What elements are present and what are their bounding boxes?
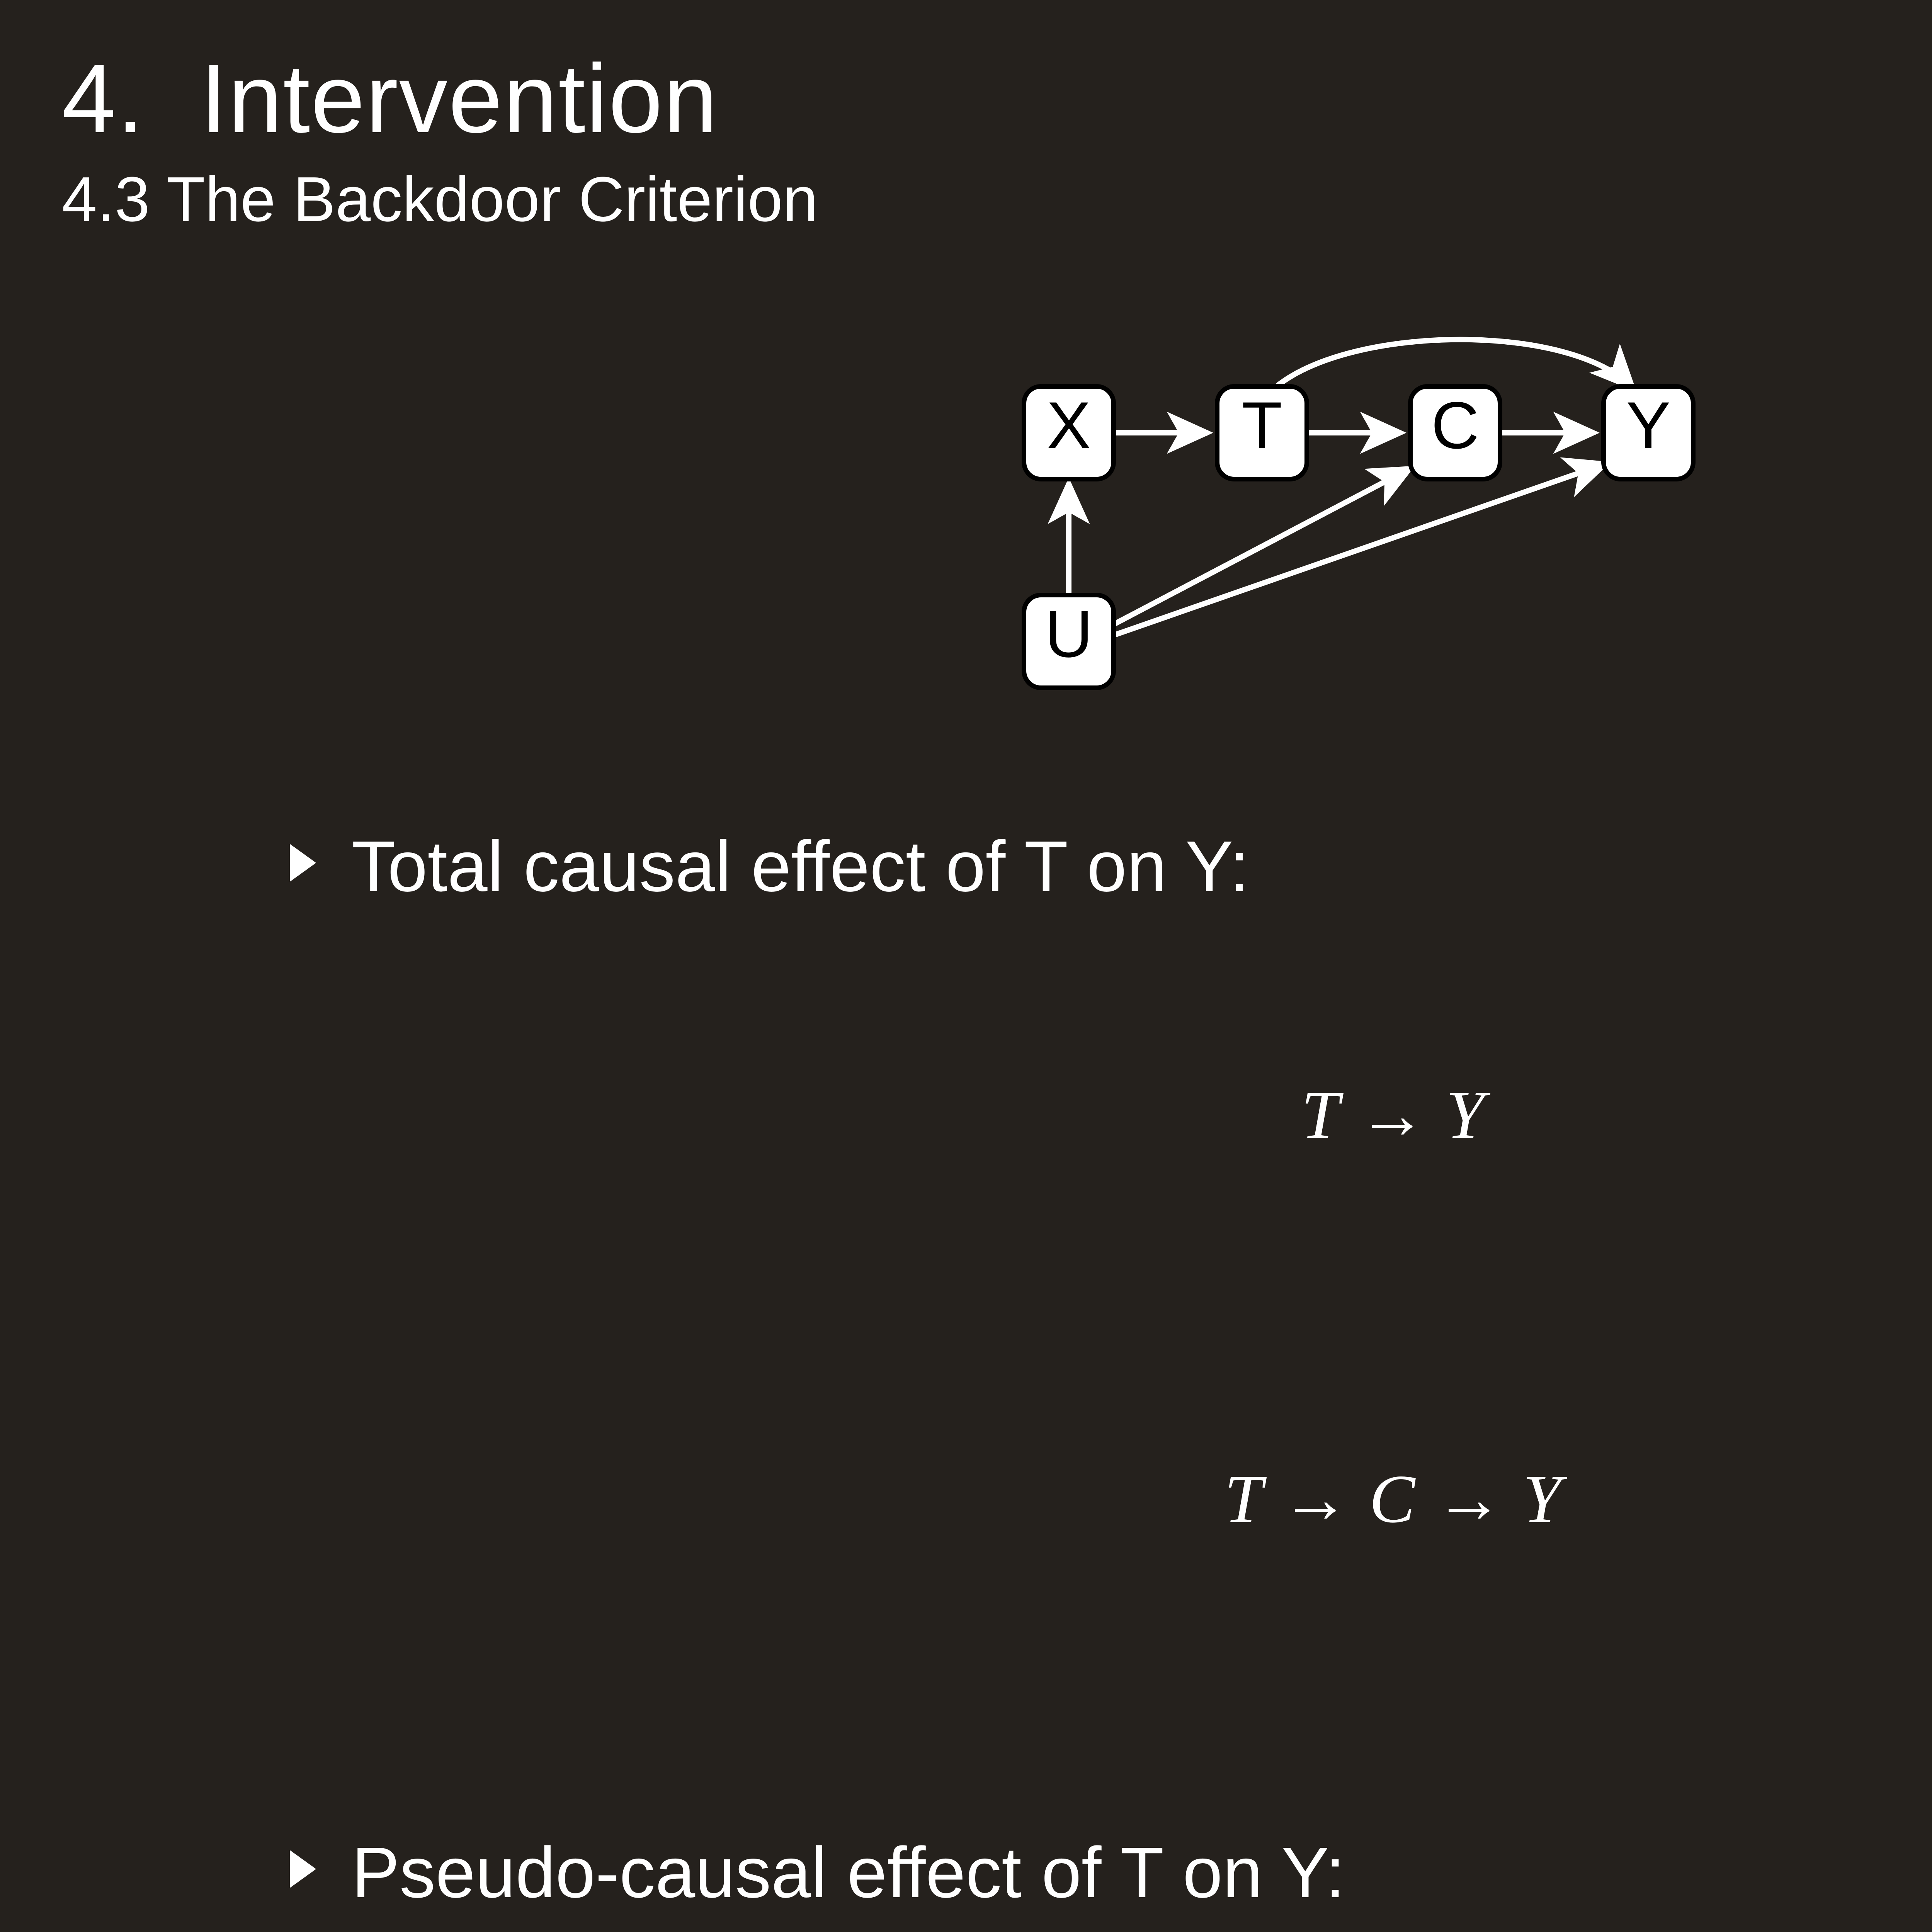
dag-node-y-label: Y: [1626, 388, 1671, 463]
slide-body: Total causal effect of T on Y: T → Y T →…: [0, 831, 1932, 1932]
dag-node-u-label: U: [1045, 597, 1093, 671]
bullet-item-total-causal-effect: Total causal effect of T on Y:: [286, 831, 1932, 903]
formula-t-to-c-to-y: T → C → Y: [0, 1464, 1932, 1533]
causal-dag-figure: X T C Y U: [0, 317, 1932, 819]
page-title: 4. Intervention: [62, 50, 1932, 148]
dag-node-x[interactable]: X: [1024, 386, 1114, 479]
dag-node-u[interactable]: U: [1024, 595, 1114, 688]
dag-node-y[interactable]: Y: [1604, 386, 1693, 479]
edge-u-to-y: [1114, 464, 1606, 635]
triangle-right-bullet-icon: [286, 842, 332, 884]
dag-edges: [1069, 340, 1633, 635]
bullet-item-pseudo-causal-effect: Pseudo-causal effect of T on Y:: [286, 1837, 1932, 1909]
bullet-label-pseudo-causal-effect: Pseudo-causal effect of T on Y:: [332, 1837, 1345, 1909]
triangle-right-bullet-icon: [286, 1848, 332, 1890]
dag-node-c[interactable]: C: [1410, 386, 1500, 479]
formula-group-total-causal: T → Y T → C → Y: [0, 943, 1932, 1671]
dag-node-t[interactable]: T: [1217, 386, 1307, 479]
causal-dag-svg: X T C Y U: [953, 317, 1834, 811]
bullet-label-total-causal-effect: Total causal effect of T on Y:: [332, 831, 1249, 903]
edge-t-to-y-arc: [1277, 340, 1633, 388]
dag-node-c-label: C: [1431, 388, 1479, 463]
formula-t-to-y: T → Y: [0, 1080, 1932, 1149]
beamer-slide: 4. Intervention 4.3 The Backdoor Criteri…: [0, 0, 1932, 1932]
dag-node-x-label: X: [1047, 388, 1091, 463]
dag-node-t-label: T: [1242, 388, 1282, 463]
page-subtitle: 4.3 The Backdoor Criterion: [62, 168, 1932, 231]
slide-header: 4. Intervention 4.3 The Backdoor Criteri…: [62, 50, 1932, 231]
